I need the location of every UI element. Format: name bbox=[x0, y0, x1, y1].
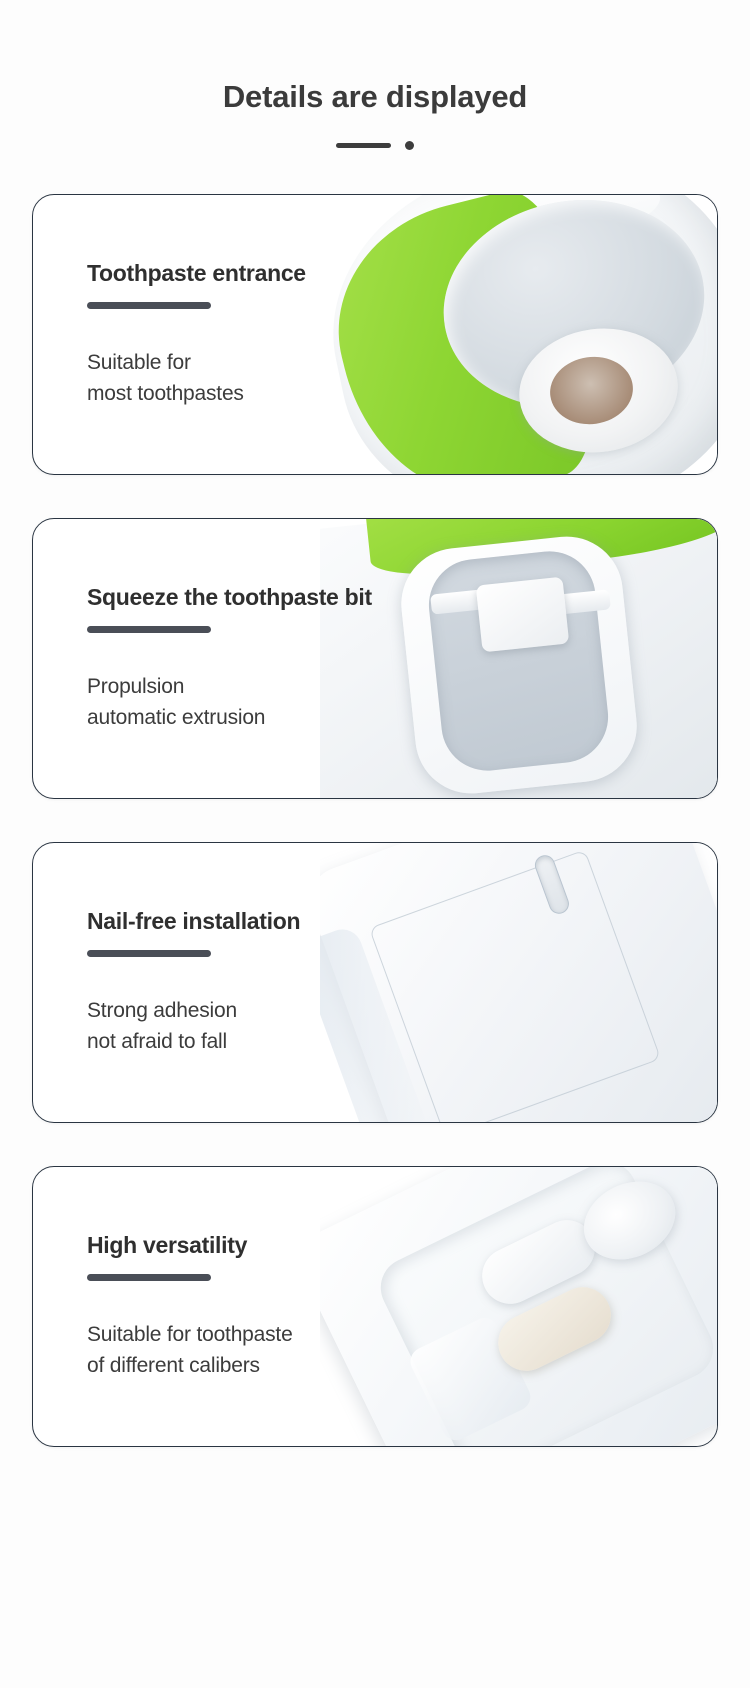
feature-card-list: Toothpaste entrance Suitable for most to… bbox=[0, 194, 750, 1447]
feature-card-subtitle: Strong adhesion not afraid to fall bbox=[87, 995, 717, 1058]
feature-card-text: High versatility Suitable for toothpaste… bbox=[33, 1167, 717, 1446]
feature-card[interactable]: Squeeze the toothpaste bit Propulsion au… bbox=[32, 518, 718, 799]
details-page: Details are displayed Toothpaste entranc… bbox=[0, 0, 750, 1688]
dot-decoration-icon bbox=[405, 141, 414, 150]
feature-card-subtitle: Suitable for toothpaste of different cal… bbox=[87, 1319, 717, 1382]
title-underline bbox=[87, 950, 211, 957]
page-title: Details are displayed bbox=[0, 78, 750, 115]
feature-card[interactable]: High versatility Suitable for toothpaste… bbox=[32, 1166, 718, 1447]
feature-card-title: Toothpaste entrance bbox=[87, 260, 717, 287]
feature-card-text: Nail-free installation Strong adhesion n… bbox=[33, 843, 717, 1122]
feature-card-title: Squeeze the toothpaste bit bbox=[87, 584, 717, 611]
title-decoration bbox=[0, 141, 750, 150]
page-header: Details are displayed bbox=[0, 0, 750, 150]
feature-card-subtitle: Suitable for most toothpastes bbox=[87, 347, 717, 410]
dash-decoration-icon bbox=[336, 143, 391, 148]
feature-card[interactable]: Toothpaste entrance Suitable for most to… bbox=[32, 194, 718, 475]
title-underline bbox=[87, 1274, 211, 1281]
feature-card-text: Toothpaste entrance Suitable for most to… bbox=[33, 195, 717, 474]
feature-card-title: High versatility bbox=[87, 1232, 717, 1259]
feature-card-subtitle: Propulsion automatic extrusion bbox=[87, 671, 717, 734]
feature-card-title: Nail-free installation bbox=[87, 908, 717, 935]
title-underline bbox=[87, 626, 211, 633]
feature-card-text: Squeeze the toothpaste bit Propulsion au… bbox=[33, 519, 717, 798]
title-underline bbox=[87, 302, 211, 309]
feature-card[interactable]: Nail-free installation Strong adhesion n… bbox=[32, 842, 718, 1123]
